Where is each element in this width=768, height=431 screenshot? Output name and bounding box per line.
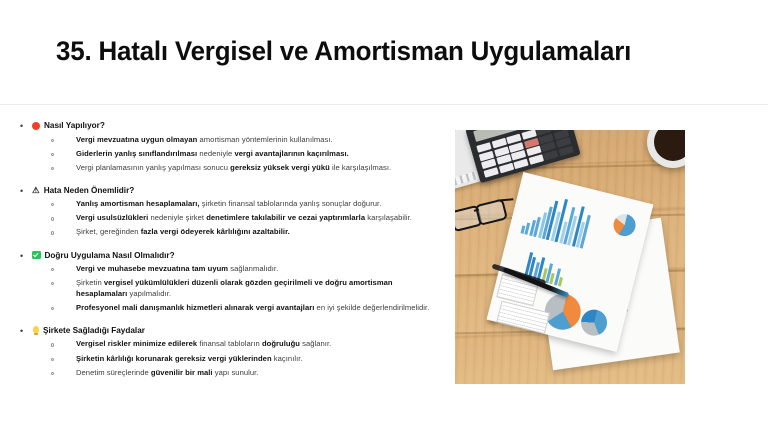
- group-bullet-marker: •: [18, 249, 32, 317]
- list-item: Denetim süreçlerinde güvenilir bir mali …: [32, 368, 442, 379]
- green-check-icon: [32, 251, 41, 260]
- sub-bullet-marker: [32, 149, 52, 160]
- sub-bullet-text: Vergi planlamasının yanlış yapılması son…: [52, 163, 442, 174]
- list-item: Giderlerin yanlış sınıflandırılması nede…: [32, 149, 442, 160]
- list-item: Yanlış amortisman hesaplamaları, şirketi…: [32, 199, 442, 210]
- page-title: 35. Hatalı Vergisel ve Amortisman Uygula…: [56, 36, 631, 67]
- bullet-group-nasil-yapiliyor: • Nasıl Yapılıyor? Vergi mevzuatına uygu…: [18, 119, 442, 177]
- calculator-key: [498, 163, 513, 174]
- bar-chart-primary: [521, 189, 595, 249]
- pie-chart-top: [611, 212, 638, 239]
- sub-bullet-text: Vergi ve muhasebe mevzuatına tam uyum sa…: [52, 264, 442, 275]
- list-item: Vergi ve muhasebe mevzuatına tam uyum sa…: [32, 264, 442, 275]
- sub-bullet-text: Yanlış amortisman hesaplamaları, şirketi…: [52, 199, 442, 210]
- sub-bullet-marker: [32, 339, 52, 350]
- sub-bullet-text: Vergi usulsüzlükleri nedeniyle şirket de…: [52, 213, 442, 224]
- media-column: [452, 105, 768, 431]
- sub-bullet-marker: [32, 368, 52, 379]
- list-item: Şirketin kârlılığı korunarak gereksiz ve…: [32, 354, 442, 365]
- sub-bullet-text: Şirketin vergisel yükümlülükleri düzenli…: [52, 278, 442, 299]
- bullet-group-hata-neden-onemlidir: • ⚠ Hata Neden Önemlidir? Yanlış amortis…: [18, 184, 442, 242]
- bullet-group-faydalar: • Şirkete Sağladığı Faydalar Vergisel ri…: [18, 324, 442, 382]
- calculator-key: [528, 154, 543, 165]
- sub-bullet-marker: [32, 264, 52, 275]
- group-heading-row: Nasıl Yapılıyor?: [32, 119, 442, 132]
- slide-header: 35. Hatalı Vergisel ve Amortisman Uygula…: [0, 0, 768, 104]
- eyeglasses-temple: [497, 198, 513, 202]
- group-heading-text: Şirkete Sağladığı Faydalar: [43, 324, 145, 337]
- sub-bullet-text: Vergi mevzuatına uygun olmayan amortisma…: [52, 135, 442, 146]
- sub-bullet-text: Vergisel riskler minimize edilerek finan…: [52, 339, 442, 350]
- calculator-key: [543, 150, 558, 161]
- bullet-content-column: • Nasıl Yapılıyor? Vergi mevzuatına uygu…: [0, 105, 452, 431]
- pie-chart-small: [578, 307, 610, 339]
- sub-bullet-marker: [32, 199, 52, 210]
- group-bullet-marker: •: [18, 184, 32, 242]
- sub-bullet-marker: [32, 354, 52, 365]
- bullet-group-dogru-uygulama: • Doğru Uygulama Nasıl Olmalıdır? Vergi …: [18, 249, 442, 317]
- sub-bullet-marker: [32, 213, 52, 224]
- sub-bullet-marker: [32, 163, 52, 174]
- group-heading-text: Doğru Uygulama Nasıl Olmalıdır?: [45, 249, 175, 262]
- sub-bullet-marker: [32, 278, 52, 299]
- warning-triangle-icon: ⚠: [32, 184, 40, 197]
- group-heading-row: Şirkete Sağladığı Faydalar: [32, 324, 442, 337]
- coffee-cup: [647, 130, 685, 168]
- sub-bullet-text: Şirket, gereğinden fazla vergi ödeyerek …: [52, 227, 442, 238]
- sub-bullet-marker: [32, 227, 52, 238]
- group-bullet-marker: •: [18, 324, 32, 382]
- lightbulb-icon: [33, 326, 39, 333]
- list-item: Vergi usulsüzlükleri nedeniyle şirket de…: [32, 213, 442, 224]
- sub-bullet-text: Denetim süreçlerinde güvenilir bir mali …: [52, 368, 442, 379]
- list-item: Şirket, gereğinden fazla vergi ödeyerek …: [32, 227, 442, 238]
- group-heading-row: Doğru Uygulama Nasıl Olmalıdır?: [32, 249, 442, 262]
- group-heading-text: Nasıl Yapılıyor?: [44, 119, 105, 132]
- calculator-key: [483, 167, 498, 178]
- calculator-key: [513, 159, 528, 170]
- sub-bullet-list: Vergisel riskler minimize edilerek finan…: [32, 339, 442, 378]
- red-circle-icon: [32, 122, 40, 130]
- eyeglasses: [455, 195, 515, 233]
- group-heading-text: Hata Neden Önemlidir?: [44, 184, 135, 197]
- eyeglasses-lens-right: [475, 198, 508, 225]
- list-item: Vergi mevzuatına uygun olmayan amortisma…: [32, 135, 442, 146]
- list-item: Vergisel riskler minimize edilerek finan…: [32, 339, 442, 350]
- calculator-key: [558, 146, 573, 157]
- wooden-desk-background: [455, 130, 685, 384]
- list-item: Profesyonel mali danışmanlık hizmetleri …: [32, 303, 442, 314]
- sub-bullet-list: Vergi ve muhasebe mevzuatına tam uyum sa…: [32, 264, 442, 313]
- desk-photo: [455, 130, 685, 384]
- data-table-mini: [496, 301, 550, 334]
- sub-bullet-list: Vergi mevzuatına uygun olmayan amortisma…: [32, 135, 442, 174]
- list-item: Şirketin vergisel yükümlülükleri düzenli…: [32, 278, 442, 299]
- sub-bullet-marker: [32, 135, 52, 146]
- sub-bullet-marker: [32, 303, 52, 314]
- slide-body: • Nasıl Yapılıyor? Vergi mevzuatına uygu…: [0, 105, 768, 431]
- list-item: Vergi planlamasının yanlış yapılması son…: [32, 163, 442, 174]
- sub-bullet-text: Profesyonel mali danışmanlık hizmetleri …: [52, 303, 442, 314]
- sub-bullet-text: Giderlerin yanlış sınıflandırılması nede…: [52, 149, 442, 160]
- sub-bullet-list: Yanlış amortisman hesaplamaları, şirketi…: [32, 199, 442, 238]
- sub-bullet-text: Şirketin kârlılığı korunarak gereksiz ve…: [52, 354, 442, 365]
- group-bullet-marker: •: [18, 119, 32, 177]
- group-heading-row: ⚠ Hata Neden Önemlidir?: [32, 184, 442, 197]
